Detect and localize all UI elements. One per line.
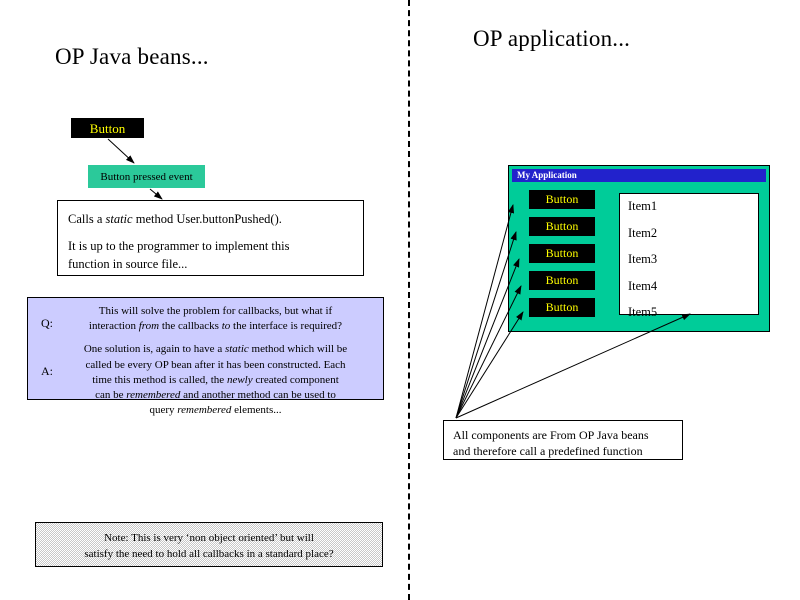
answer-text: One solution is, again to have a static …: [62, 342, 383, 418]
answer-line-1-b: method which will be: [249, 343, 347, 355]
question-line-2-em1: from: [139, 320, 159, 332]
answer-line-1-em: static: [225, 343, 249, 355]
list-item[interactable]: Item4: [628, 280, 758, 293]
answer-line-3-b: created component: [253, 374, 339, 386]
question-answer-box: Q: This will solve the problem for callb…: [27, 297, 384, 400]
question-line-2-a: interaction: [89, 320, 139, 332]
app-button-3[interactable]: Button: [529, 244, 595, 263]
answer-line-5-em: remembered: [177, 404, 231, 416]
calls-line-2: It is up to the programmer to implement …: [68, 237, 353, 255]
answer-line-5-b: elements...: [231, 404, 281, 416]
note-line-1: Note: This is very ‘non object oriented’…: [36, 531, 382, 547]
answer-line-2: called be every OP bean after it has bee…: [62, 358, 369, 373]
calls-line-1-prefix: Calls a: [68, 212, 106, 226]
answer-line-1-a: One solution is, again to have a: [84, 343, 225, 355]
arrow-event-to-calls: [150, 189, 162, 199]
slide-canvas: OP Java beans... Button Button pressed e…: [0, 0, 800, 600]
arrow-callout-to-button-1: [456, 205, 513, 418]
vertical-dashed-divider-icon: [408, 0, 410, 600]
app-button-2[interactable]: Button: [529, 217, 595, 236]
note-line-2: satisfy the need to hold all callbacks i…: [36, 547, 382, 563]
app-button-1[interactable]: Button: [529, 190, 595, 209]
callout-line-2: and therefore call a predefined function: [453, 443, 682, 459]
button-pressed-event-box: Button pressed event: [88, 165, 205, 188]
app-button-4[interactable]: Button: [529, 271, 595, 290]
answer-line-4-a: can be: [95, 389, 126, 401]
page-title-left: OP Java beans...: [55, 44, 209, 70]
answer-line-1: One solution is, again to have a static …: [62, 342, 369, 357]
from-op-java-beans-callout: All components are From OP Java beans an…: [443, 420, 683, 460]
answer-line-3-em: newly: [227, 374, 253, 386]
question-label: Q:: [28, 304, 62, 334]
window-titlebar: My Application: [512, 169, 766, 182]
my-application-window: My Application Button Button Button Butt…: [508, 165, 770, 332]
question-row: Q: This will solve the problem for callb…: [28, 304, 383, 334]
list-item[interactable]: Item5: [628, 306, 758, 319]
callout-line-1: All components are From OP Java beans: [453, 427, 682, 443]
question-line-1: This will solve the problem for callback…: [62, 304, 369, 319]
answer-line-4-b: and another method can be used to: [180, 389, 335, 401]
answer-row: A: One solution is, again to have a stat…: [28, 342, 383, 418]
question-line-2: interaction from the callbacks to the in…: [62, 319, 369, 334]
question-line-2-b: the callbacks: [159, 320, 222, 332]
arrow-button-to-event: [108, 139, 134, 163]
list-item[interactable]: Item2: [628, 227, 758, 240]
calls-line-3: function in source file...: [68, 255, 353, 273]
answer-line-3: time this method is called, the newly cr…: [62, 373, 369, 388]
answer-label: A:: [28, 342, 62, 418]
calls-box-spacer: [68, 228, 353, 237]
page-title-right: OP application...: [473, 26, 630, 52]
note-box: Note: This is very ‘non object oriented’…: [35, 522, 383, 567]
answer-line-4-em: remembered: [126, 389, 180, 401]
app-button-5[interactable]: Button: [529, 298, 595, 317]
question-text: This will solve the problem for callback…: [62, 304, 383, 334]
list-item[interactable]: Item1: [628, 200, 758, 213]
calls-line-1-suffix: method User.buttonPushed().: [133, 212, 282, 226]
list-item[interactable]: Item3: [628, 253, 758, 266]
arrow-callout-to-button-2: [456, 232, 516, 418]
calls-line-1-emphasis: static: [106, 212, 133, 226]
app-list-box[interactable]: Item1 Item2 Item3 Item4 Item5: [619, 193, 759, 315]
answer-line-4: can be remembered and another method can…: [62, 388, 369, 403]
question-line-2-c: the interface is required?: [230, 320, 342, 332]
answer-line-3-a: time this method is called, the: [92, 374, 227, 386]
bean-button[interactable]: Button: [71, 118, 144, 138]
calls-static-method-box: Calls a static method User.buttonPushed(…: [57, 200, 364, 276]
question-line-2-em2: to: [222, 320, 231, 332]
answer-line-5-a: query: [149, 404, 177, 416]
answer-line-5: query remembered elements...: [62, 403, 369, 418]
calls-line-1: Calls a static method User.buttonPushed(…: [68, 210, 353, 228]
